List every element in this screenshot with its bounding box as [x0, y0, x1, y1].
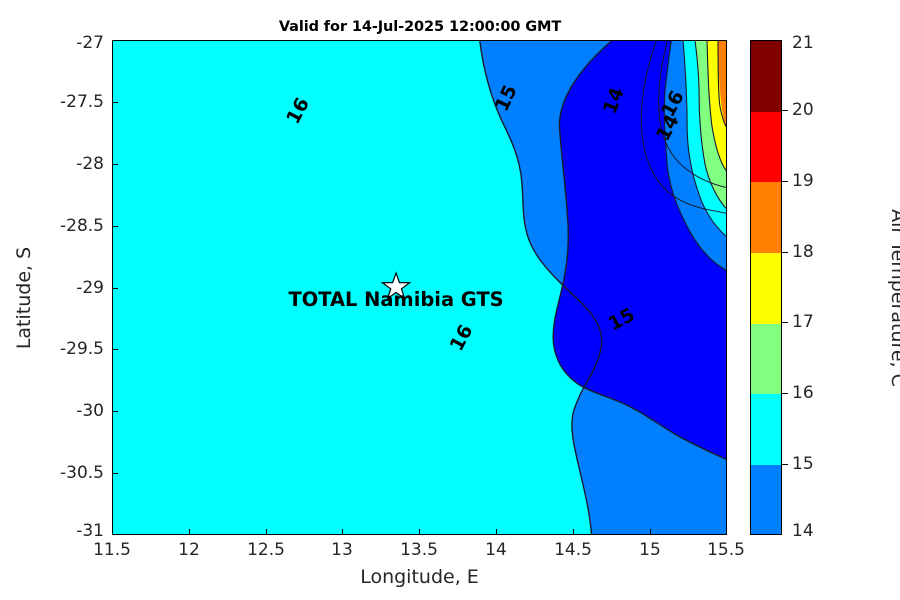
xtick-mark	[189, 529, 190, 535]
colorbar-tick-mark	[782, 393, 788, 394]
plot-area: 16 15 14 16 14 16 15 TOTAL Namibia GTS	[112, 40, 727, 535]
xtick-mark	[496, 529, 497, 535]
colorbar-tick-mark	[782, 464, 788, 465]
ytick-label: -28	[12, 154, 104, 174]
x-axis-title: Longitude, E	[112, 566, 727, 588]
colorbar-label: 19	[792, 171, 814, 191]
xtick-mark	[342, 529, 343, 535]
colorbar-label: 14	[792, 521, 814, 541]
colorbar-label: 17	[792, 312, 814, 332]
xtick-label: 13	[331, 540, 353, 560]
xtick-label: 13.5	[400, 540, 438, 560]
ytick-label: -27.5	[12, 92, 104, 112]
colorbar-band-18-19	[751, 182, 781, 253]
colorbar-band-16-17	[751, 324, 781, 395]
ytick-label: -27	[12, 33, 104, 53]
xtick-mark	[573, 529, 574, 535]
contour-field: 16 15 14 16 14 16 15 TOTAL Namibia GTS	[113, 41, 726, 534]
ytick-mark	[112, 534, 118, 535]
xtick-label: 15.5	[707, 540, 745, 560]
ytick-mark	[112, 102, 118, 103]
colorbar-tick-mark	[782, 252, 788, 253]
colorbar-band-14-15	[751, 465, 781, 535]
ytick-mark	[112, 40, 118, 41]
xtick-label: 14.5	[554, 540, 592, 560]
colorbar-band-19-20	[751, 112, 781, 183]
ytick-mark	[112, 411, 118, 412]
xtick-label: 12	[178, 540, 200, 560]
ytick-mark	[112, 288, 118, 289]
ytick-mark	[112, 473, 118, 474]
xtick-label: 11.5	[93, 540, 131, 560]
xtick-mark	[726, 529, 727, 535]
colorbar-band-17-18	[751, 253, 781, 324]
xtick-label: 14	[485, 540, 507, 560]
colorbar-tick-mark	[782, 322, 788, 323]
chart-root: Valid for 14-Jul-2025 12:00:00 GMT	[0, 0, 900, 600]
colorbar-band-20-21	[751, 41, 781, 112]
colorbar-label: 20	[792, 100, 814, 120]
site-label: TOTAL Namibia GTS	[289, 288, 504, 311]
ytick-mark	[112, 164, 118, 165]
ytick-label: -31	[12, 521, 104, 541]
xtick-mark	[419, 529, 420, 535]
xtick-mark	[650, 529, 651, 535]
colorbar-label: 16	[792, 383, 814, 403]
colorbar-label: 15	[792, 454, 814, 474]
xtick-label: 12.5	[247, 540, 285, 560]
colorbar	[750, 40, 782, 535]
colorbar-tick-mark	[782, 181, 788, 182]
y-axis-title: Latitude, S	[13, 188, 35, 408]
colorbar-label: 21	[792, 33, 814, 53]
xtick-mark	[266, 529, 267, 535]
colorbar-label: 18	[792, 242, 814, 262]
ytick-mark	[112, 349, 118, 350]
ytick-mark	[112, 226, 118, 227]
colorbar-band-15-16	[751, 394, 781, 465]
colorbar-tick-mark	[782, 110, 788, 111]
ytick-label: -30.5	[12, 463, 104, 483]
colorbar-title: Air Temperature, C	[887, 148, 900, 448]
xtick-label: 15	[639, 540, 661, 560]
chart-title: Valid for 14-Jul-2025 12:00:00 GMT	[112, 19, 728, 35]
